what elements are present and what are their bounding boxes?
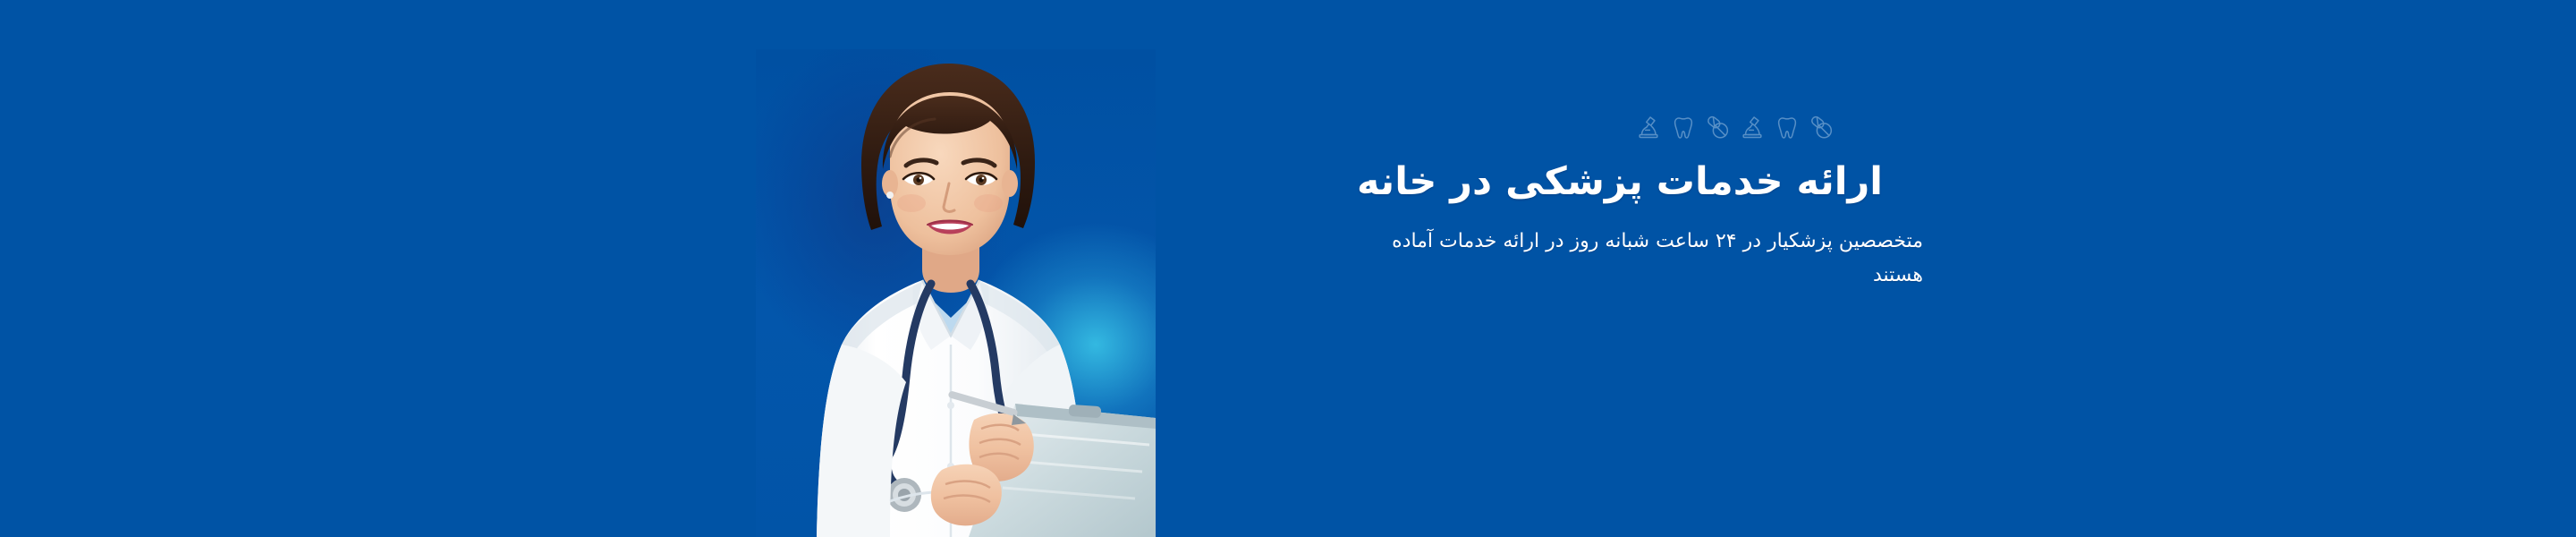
hero-text-column: ارائه خدمات پزشکی در خانه متخصصین پزشکیا… [1167, 157, 1883, 292]
tooth-icon [1774, 115, 1801, 141]
pills-icon [1705, 115, 1732, 141]
clipboard-clip [1069, 405, 1102, 418]
medical-icon-strip [1635, 110, 1835, 146]
doctor-cheek-right [974, 194, 1003, 212]
doctor-coat-button [947, 402, 954, 409]
doctor-photo-block [756, 49, 1156, 537]
tooth-icon [1670, 115, 1697, 141]
microscope-icon [1739, 115, 1766, 141]
hero-subtitle-line-2: هستند [1248, 259, 1923, 293]
hero-banner: ارائه خدمات پزشکی در خانه متخصصین پزشکیا… [0, 0, 2576, 537]
doctor-hand-left [931, 465, 1002, 526]
doctor-ear-right [1002, 170, 1018, 197]
hero-subtitle-line-1: متخصصین پزشکیار در ۲۴ ساعت شبانه روز در … [1248, 225, 1923, 259]
pills-icon [1809, 115, 1835, 141]
doctor-cheek-left [897, 194, 926, 212]
page-title: ارائه خدمات پزشکی در خانه [1167, 157, 1883, 208]
doctor-earring-left [886, 192, 894, 199]
hero-subtitle-block: متخصصین پزشکیار در ۲۴ ساعت شبانه روز در … [1248, 225, 1923, 293]
female-doctor-photo [756, 49, 1156, 537]
microscope-icon [1635, 115, 1662, 141]
